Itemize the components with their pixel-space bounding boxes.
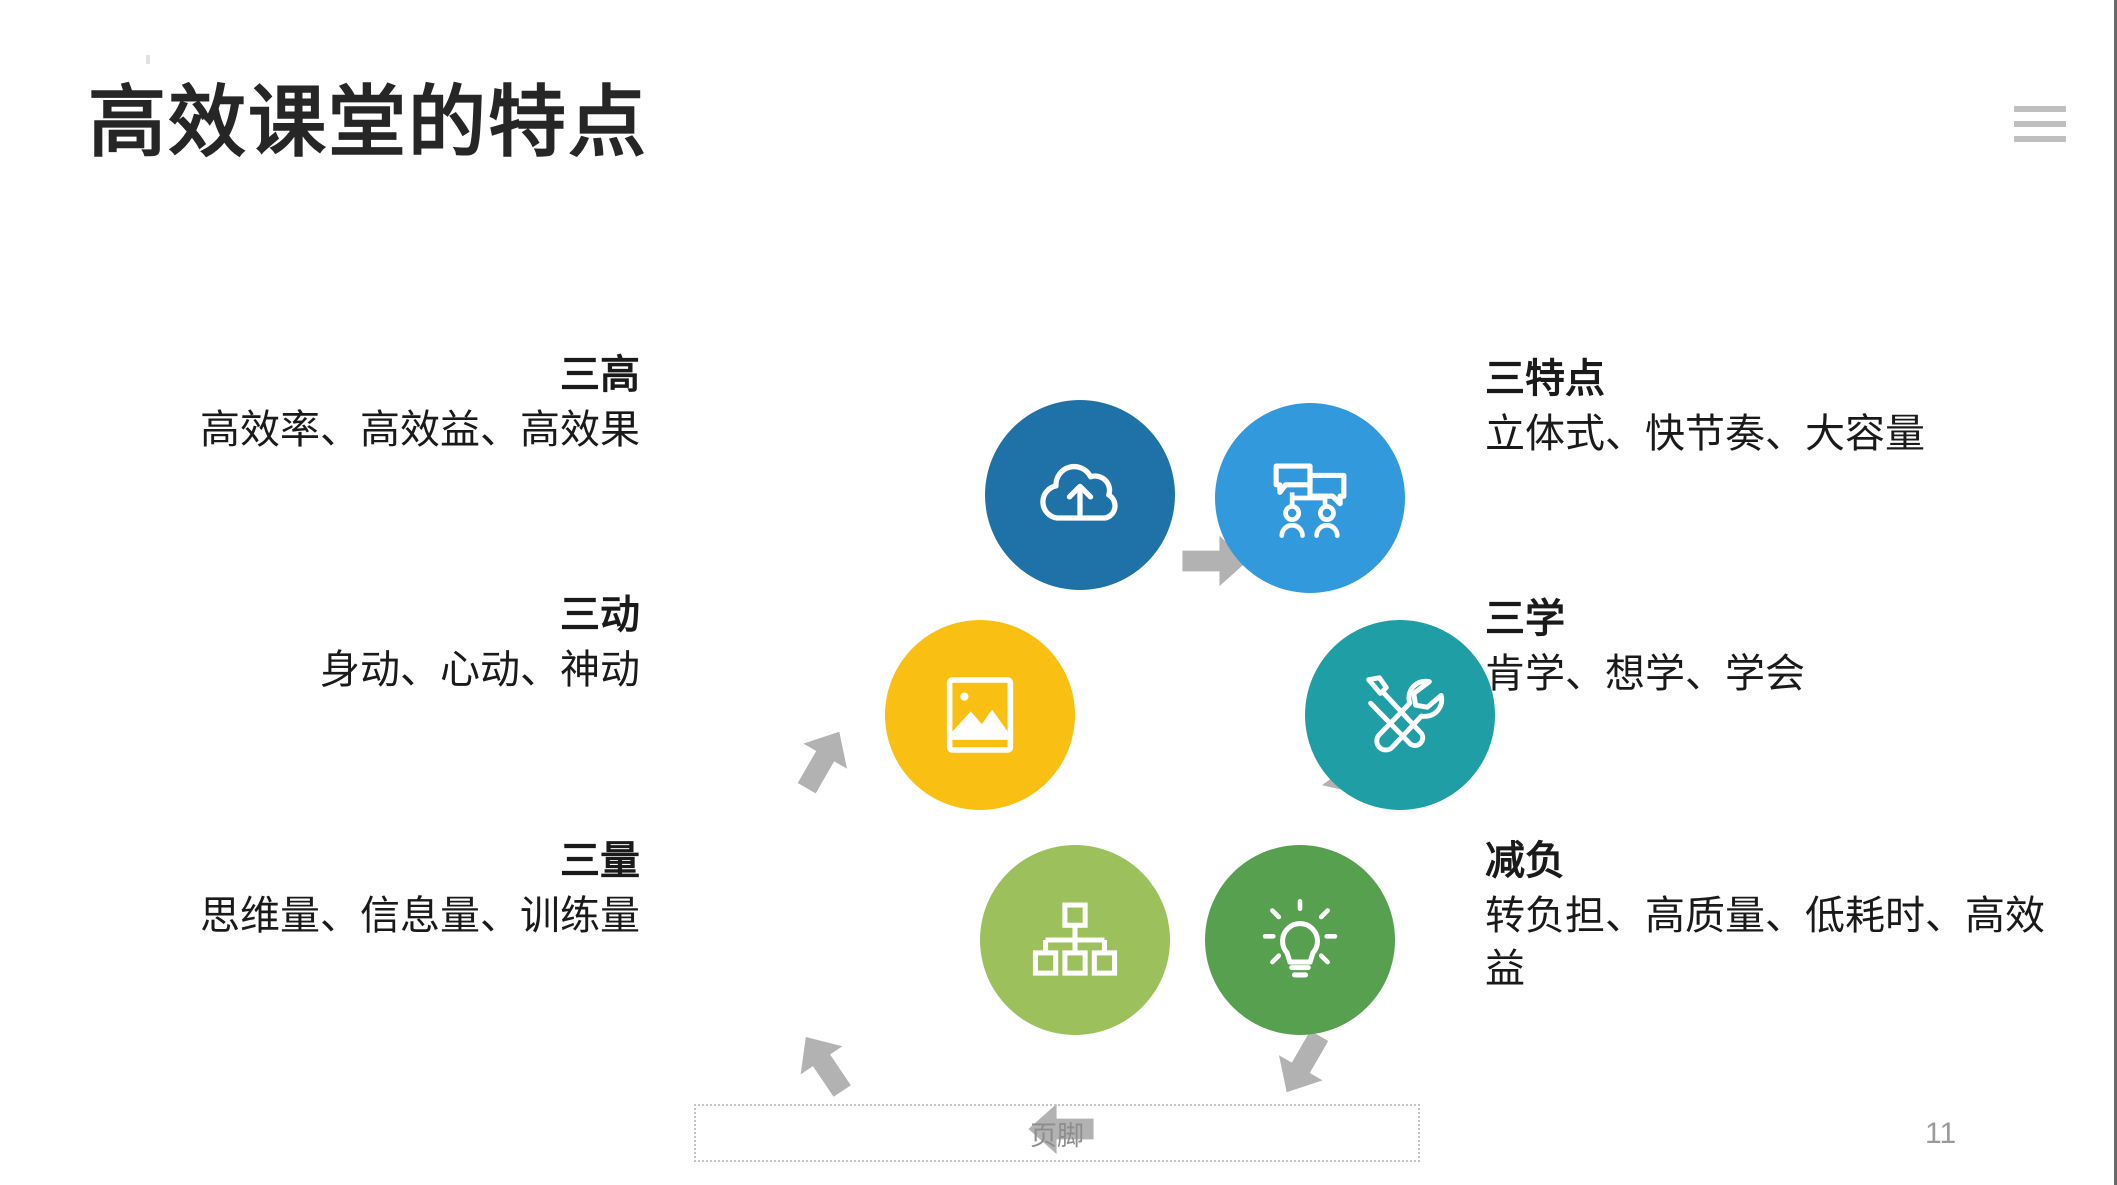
slide-canvas: 高效课堂的特点 三高 高效率、高效益、高效果 三动 身动、心动、神动 三量 思维… — [0, 0, 2117, 1185]
label-title: 三高 — [60, 352, 640, 398]
image-picture-icon — [934, 669, 1026, 761]
label-block-right-2: 三学 肯学、想学、学会 — [1485, 596, 2065, 701]
hamburger-menu-icon[interactable] — [2014, 106, 2066, 142]
cycle-node-image[interactable] — [885, 620, 1075, 810]
label-block-left-1: 三高 高效率、高效益、高效果 — [60, 352, 640, 457]
title-speck-artifact — [146, 55, 150, 64]
cycle-node-tools[interactable] — [1305, 620, 1495, 810]
label-body: 思维量、信息量、训练量 — [60, 890, 640, 943]
label-block-left-3: 三量 思维量、信息量、训练量 — [60, 838, 640, 943]
cloud-upload-icon — [1032, 447, 1128, 543]
label-block-right-1: 三特点 立体式、快节奏、大容量 — [1485, 356, 2065, 461]
hamburger-line-2 — [2014, 121, 2066, 127]
meeting-people-icon — [1263, 451, 1357, 545]
label-title: 三特点 — [1485, 356, 2065, 402]
cycle-diagram — [660, 300, 1460, 1020]
label-block-right-3: 减负 转负担、高质量、低耗时、高效益 — [1485, 838, 2075, 996]
label-title: 三动 — [60, 592, 640, 638]
label-title: 减负 — [1485, 838, 2075, 884]
cycle-node-cloud-upload[interactable] — [985, 400, 1175, 590]
label-title: 三量 — [60, 838, 640, 884]
label-body: 身动、心动、神动 — [60, 644, 640, 697]
org-chart-icon — [1029, 894, 1121, 986]
label-block-left-2: 三动 身动、心动、神动 — [60, 592, 640, 697]
label-body: 立体式、快节奏、大容量 — [1485, 408, 2065, 461]
cycle-arrow-5 — [773, 1013, 876, 1116]
cycle-node-lightbulb[interactable] — [1205, 845, 1395, 1035]
label-body: 肯学、想学、学会 — [1485, 648, 2065, 701]
label-title: 三学 — [1485, 596, 2065, 642]
label-body: 转负担、高质量、低耗时、高效益 — [1485, 890, 2075, 996]
lightbulb-icon — [1254, 894, 1346, 986]
cycle-arrow-6 — [772, 709, 873, 810]
hamburger-line-3 — [2014, 136, 2066, 142]
hamburger-line-1 — [2014, 106, 2066, 112]
label-body: 高效率、高效益、高效果 — [60, 404, 640, 457]
tools-wrench-screwdriver-icon — [1351, 666, 1449, 764]
page-title: 高效课堂的特点 — [88, 82, 648, 164]
page-number: 11 — [1925, 1117, 1956, 1151]
footer-placeholder-box[interactable]: 页脚 — [694, 1104, 1420, 1162]
footer-text: 页脚 — [1030, 1114, 1084, 1153]
cycle-node-org-chart[interactable] — [980, 845, 1170, 1035]
cycle-node-meeting[interactable] — [1215, 403, 1405, 593]
